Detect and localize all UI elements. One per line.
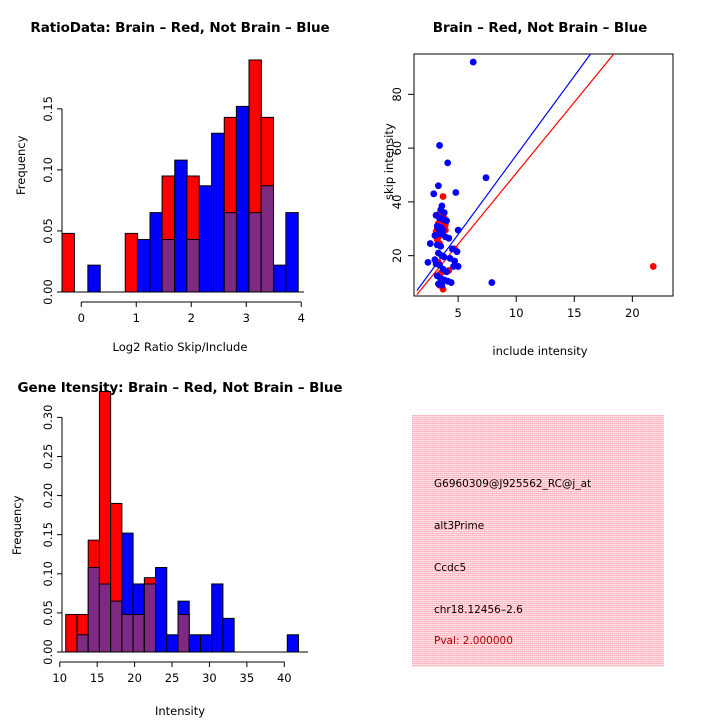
ratio-histogram-title: RatioData: Brain – Red, Not Brain – Blue [0, 20, 360, 36]
scatter-point [440, 193, 447, 200]
ratio-bar-overlap [224, 213, 236, 292]
scatter-point [444, 160, 451, 167]
panel-intensity-scatter: Brain – Red, Not Brain – Blue 5101520204… [360, 0, 720, 360]
scatter-point [443, 217, 450, 224]
scatter-point [436, 142, 443, 149]
scatter-point [425, 259, 432, 266]
gene-y-ticklabel: 0.00 [41, 639, 55, 665]
ratio-histogram-plot: 0.000.050.100.1501234 [0, 0, 360, 360]
scatter-x-ticklabel: 5 [454, 306, 461, 320]
panel-gene-info: G6960309@J925562_RC@j_at alt3Prime Ccdc5… [360, 360, 720, 720]
gene-x-ticklabel: 35 [240, 671, 255, 685]
gene-x-ticklabel: 25 [165, 671, 180, 685]
ratio-bar-overlap [249, 213, 261, 292]
ratio-bar [62, 233, 74, 292]
ratio-x-ticklabel: 4 [298, 311, 305, 325]
info-probe-id: G6960309@J925562_RC@j_at [434, 478, 591, 490]
panel-ratio-histogram: RatioData: Brain – Red, Not Brain – Blue… [0, 0, 360, 360]
scatter-point [445, 235, 452, 242]
scatter-point [488, 279, 495, 286]
gene-histogram-title: Gene Itensity: Brain – Red, Not Brain – … [0, 380, 360, 396]
figure-canvas: RatioData: Brain – Red, Not Brain – Blue… [0, 0, 720, 720]
scatter-point [438, 282, 445, 289]
scatter-point [454, 248, 461, 255]
scatter-point [441, 209, 448, 216]
gene-histogram-plot: 0.000.050.100.150.200.250.30101520253035… [0, 360, 360, 720]
scatter-title: Brain – Red, Not Brain – Blue [360, 20, 720, 36]
ratio-bar [175, 160, 187, 292]
ratio-histogram-ylabel: Frequency [14, 136, 28, 195]
ratio-bar [236, 106, 248, 292]
gene-x-ticklabel: 40 [277, 671, 292, 685]
gene-x-ticklabel: 15 [90, 671, 105, 685]
scatter-y-ticklabel: 20 [390, 248, 404, 263]
gene-y-ticklabel: 0.10 [41, 561, 55, 587]
ratio-bar [212, 133, 224, 292]
gene-x-ticklabel: 20 [127, 671, 142, 685]
gene-bar-overlap [133, 614, 144, 652]
ratio-y-ticklabel: 0.15 [41, 96, 55, 122]
gene-histogram-ylabel: Frequency [10, 496, 24, 555]
gene-y-ticklabel: 0.25 [41, 444, 55, 470]
ratio-bar-overlap [261, 186, 273, 292]
scatter-point [435, 182, 442, 189]
ratio-bar [150, 213, 162, 292]
ratio-bar [286, 213, 298, 292]
gene-bar-overlap [99, 584, 110, 652]
gene-bar-overlap [144, 584, 155, 652]
scatter-point [455, 227, 462, 234]
gene-y-ticklabel: 0.30 [41, 405, 55, 431]
panel-gene-histogram: Gene Itensity: Brain – Red, Not Brain – … [0, 360, 360, 720]
scatter-point [432, 232, 439, 239]
scatter-point [470, 59, 477, 66]
scatter-point [448, 279, 455, 286]
ratio-bar [274, 265, 286, 292]
ratio-x-ticklabel: 2 [188, 311, 195, 325]
gene-y-ticklabel: 0.20 [41, 483, 55, 509]
scatter-data-layer [417, 54, 657, 295]
ratio-bar [88, 265, 100, 292]
scatter-point [452, 189, 459, 196]
scatter-point [650, 263, 657, 270]
scatter-point [451, 258, 458, 265]
gene-bar [66, 614, 77, 652]
scatter-x-ticklabel: 20 [625, 306, 640, 320]
gene-bar [156, 568, 167, 652]
ratio-bar [200, 186, 212, 292]
scatter-point [430, 190, 437, 197]
gene-bar-overlap [88, 568, 99, 652]
gene-bar [223, 618, 234, 652]
ratio-y-ticklabel: 0.10 [41, 157, 55, 183]
scatter-x-ticklabel: 15 [567, 306, 582, 320]
scatter-x-ticklabel: 10 [509, 306, 524, 320]
gene-bar [200, 635, 211, 652]
gene-x-ticklabel: 30 [202, 671, 217, 685]
scatter-plot: 510152020406080 [360, 0, 720, 360]
scatter-xlabel: include intensity [360, 344, 720, 358]
scatter-point [427, 240, 434, 247]
ratio-x-ticklabel: 1 [133, 311, 140, 325]
gene-bar [167, 635, 178, 652]
scatter-point [432, 256, 439, 263]
ratio-bar-overlap [162, 239, 174, 292]
ratio-bar [137, 239, 149, 292]
info-locus: chr18.12456–2.6 [434, 604, 523, 616]
info-gene-symbol: Ccdc5 [434, 562, 466, 574]
gene-bar-overlap [122, 614, 133, 652]
gene-bar-overlap [178, 614, 189, 652]
gene-bar [189, 635, 200, 652]
gene-y-ticklabel: 0.05 [41, 600, 55, 626]
ratio-bar [125, 233, 137, 292]
info-pvalue: Pval: 2.000000 [434, 635, 513, 647]
ratio-x-ticklabel: 3 [243, 311, 250, 325]
scatter-point [437, 243, 444, 250]
info-event-type: alt3Prime [434, 520, 484, 532]
ratio-x-ticklabel: 0 [78, 311, 85, 325]
gene-histogram-xlabel: Intensity [0, 704, 360, 718]
ratio-histogram-xlabel: Log2 Ratio Skip/Include [0, 340, 360, 354]
gene-bar [287, 635, 298, 652]
gene-bar-overlap [77, 635, 88, 652]
scatter-ylabel: skip intensity [382, 123, 396, 200]
scatter-point [443, 268, 450, 275]
ratio-y-ticklabel: 0.00 [41, 279, 55, 305]
gene-x-ticklabel: 10 [52, 671, 67, 685]
scatter-y-ticklabel: 80 [390, 87, 404, 102]
gene-bar-overlap [111, 601, 122, 652]
ratio-y-ticklabel: 0.05 [41, 218, 55, 244]
scatter-point [483, 174, 490, 181]
ratio-bar-overlap [187, 239, 199, 292]
gene-info-background: G6960309@J925562_RC@j_at alt3Prime Ccdc5… [412, 415, 664, 667]
gene-y-ticklabel: 0.15 [41, 522, 55, 548]
gene-bar [212, 584, 223, 652]
scatter-point [441, 254, 448, 261]
